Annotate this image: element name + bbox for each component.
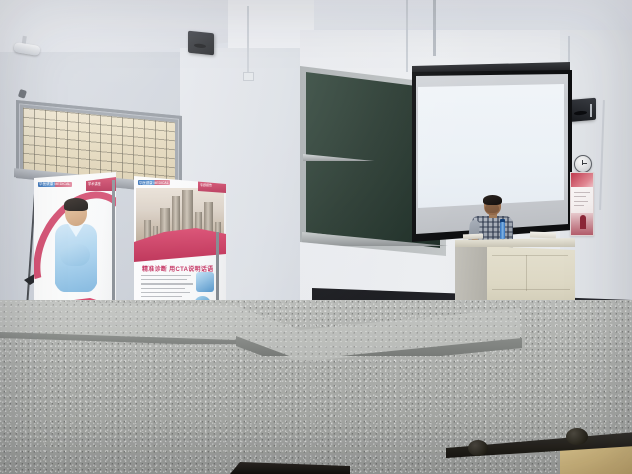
clock-minute-hand [582,163,587,164]
speaker-portrait [52,198,100,292]
poster-header [571,173,593,187]
banner-graphic [196,272,214,292]
presenter-face-shadow [485,204,499,213]
speaker-cone-icon [574,110,587,115]
banner-tag-text: 专题报告 [200,183,212,187]
chair-knob [566,428,588,445]
portrait-hair [64,198,88,211]
banner-logo-text: 华医健康 MEDICAL [139,180,169,185]
projected-slide: 研究方法与技术指标对比 CTA 数据平台 项目 方法 A 方法 B 成像范围 全… [418,84,564,208]
lectern-top [455,238,575,247]
wall-poster [570,172,594,236]
lecture-hall-scene: 研究方法与技术指标对比 CTA 数据平台 项目 方法 A 方法 B 成像范围 全… [0,0,632,474]
banner-logo: 华医健康 MEDICAL [138,180,170,185]
ceiling-rod [433,0,436,56]
portrait-arm [60,244,90,266]
presenter-hair [483,195,502,205]
ceiling-rod [406,0,408,72]
wall-speaker-left [188,31,214,56]
ceiling-rod [247,6,249,76]
wall-clock-icon [574,155,592,173]
banner-logo-text: 华医健康 MEDICAL [38,182,70,187]
banner-logo: 华医健康 MEDICAL [38,182,72,187]
chair-knob [468,440,488,456]
ceiling-rod-cap [243,72,254,81]
poster-figure [580,215,586,229]
banner-bullet-list [141,275,193,300]
water-bottle [500,222,505,239]
speaker-cone-icon [194,43,206,48]
speaker-bracket [590,104,592,117]
banner-tag-text: 学术讲座 [88,181,101,186]
